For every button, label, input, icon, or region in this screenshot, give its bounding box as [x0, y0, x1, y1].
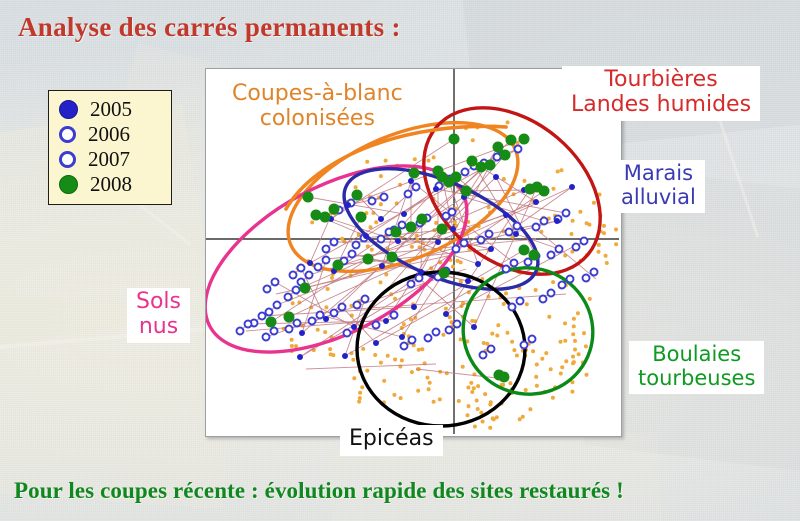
- background-point: [559, 340, 563, 344]
- point-2008: [300, 283, 311, 294]
- point-2008: [519, 134, 530, 145]
- point-2006: [353, 242, 360, 249]
- background-point: [456, 259, 460, 263]
- background-point: [357, 400, 361, 404]
- point-2007: [272, 279, 279, 286]
- background-point: [501, 383, 505, 387]
- background-point: [512, 348, 516, 352]
- background-point: [330, 276, 334, 280]
- point-2005: [395, 238, 401, 244]
- point-2006: [478, 237, 485, 244]
- background-point: [459, 280, 463, 284]
- point-2006: [540, 296, 547, 303]
- callout-tourbieres-line1: Tourbières: [571, 68, 751, 93]
- point-2008: [356, 212, 367, 223]
- background-point: [540, 357, 544, 361]
- point-2007: [271, 328, 278, 335]
- background-point: [576, 311, 580, 315]
- background-point: [358, 396, 362, 400]
- point-2005: [299, 330, 305, 336]
- background-point: [310, 220, 314, 224]
- background-point: [556, 170, 560, 174]
- point-2007: [323, 257, 330, 264]
- callout-marais-alluvial: Marais alluvial: [612, 160, 705, 213]
- point-2006: [548, 252, 555, 259]
- point-2007: [416, 275, 423, 282]
- point-2006: [378, 236, 385, 243]
- point-2007: [454, 321, 461, 328]
- point-2006: [391, 312, 398, 319]
- background-point: [400, 358, 404, 362]
- background-point: [351, 358, 355, 362]
- background-point: [571, 332, 575, 336]
- point-2006: [405, 191, 412, 198]
- point-2005: [488, 246, 494, 252]
- background-point: [602, 231, 606, 235]
- background-point: [365, 160, 369, 164]
- filled-blue-circle-icon: [59, 100, 78, 119]
- background-point: [483, 392, 487, 396]
- point-2008: [320, 212, 331, 223]
- background-point: [417, 348, 421, 352]
- point-2005: [435, 239, 441, 245]
- background-point: [410, 370, 414, 374]
- point-2007: [409, 337, 416, 344]
- background-point: [531, 349, 535, 353]
- background-point: [482, 341, 486, 345]
- point-2006: [533, 224, 540, 231]
- background-point: [379, 280, 383, 284]
- background-point: [572, 317, 576, 321]
- background-point: [506, 331, 510, 335]
- background-point: [294, 344, 298, 348]
- point-2005: [411, 304, 417, 310]
- background-point: [481, 420, 485, 424]
- point-2006: [237, 328, 244, 335]
- point-2008: [461, 186, 472, 197]
- point-2006: [315, 264, 322, 271]
- background-point: [438, 397, 442, 401]
- point-2008: [539, 186, 550, 197]
- point-2007: [259, 313, 266, 320]
- point-2008: [451, 172, 462, 183]
- background-point: [544, 351, 548, 355]
- background-point: [496, 323, 500, 327]
- background-point: [584, 344, 588, 348]
- point-2006: [264, 286, 271, 293]
- background-point: [479, 411, 483, 415]
- callout-coupes-line1: Coupes-à-blanc: [232, 82, 403, 107]
- legend-label-2006: 2006: [88, 124, 130, 145]
- background-point: [534, 288, 538, 292]
- point-2007: [245, 321, 252, 328]
- background-point: [535, 363, 539, 367]
- point-2008: [352, 190, 363, 201]
- point-2007: [548, 290, 555, 297]
- callout-epiceas: Epicéas: [340, 425, 443, 456]
- point-2008: [406, 222, 417, 233]
- point-2005: [378, 216, 384, 222]
- background-point: [560, 365, 564, 369]
- background-point: [324, 305, 328, 309]
- background-point: [518, 417, 522, 421]
- point-2008: [519, 245, 530, 256]
- page-title: Analyse des carrés permanents :: [18, 12, 401, 43]
- background-point: [602, 224, 606, 228]
- point-2006: [286, 326, 293, 333]
- background-point: [495, 334, 499, 338]
- background-point: [432, 400, 436, 404]
- legend-item-2006[interactable]: 2006: [59, 122, 163, 147]
- callout-sols-line2: nus: [136, 315, 181, 340]
- background-point: [467, 404, 471, 408]
- background-point: [399, 396, 403, 400]
- background-point: [373, 353, 377, 357]
- slide-root: Analyse des carrés permanents : 2005 200…: [0, 0, 800, 521]
- callout-sols-nus: Sols nus: [127, 288, 190, 343]
- point-2008: [437, 224, 448, 235]
- point-2008: [333, 260, 344, 271]
- point-2006: [521, 342, 528, 349]
- open-blue-circle-icon: [59, 151, 76, 168]
- background-point: [571, 355, 575, 359]
- background-point: [473, 425, 477, 429]
- background-point: [510, 340, 514, 344]
- background-point: [614, 228, 618, 232]
- background-point: [521, 415, 525, 419]
- point-2008: [417, 214, 428, 225]
- point-2006: [506, 229, 513, 236]
- point-2007: [306, 272, 313, 279]
- point-2007: [488, 346, 495, 353]
- background-point: [524, 388, 528, 392]
- background-point: [549, 367, 553, 371]
- point-2005: [401, 211, 407, 217]
- background-point: [329, 352, 333, 356]
- point-2008: [467, 156, 478, 167]
- background-point: [597, 250, 601, 254]
- point-2005: [363, 233, 369, 239]
- point-2005: [297, 354, 303, 360]
- background-point: [476, 407, 480, 411]
- background-point: [469, 381, 473, 385]
- background-point: [508, 381, 512, 385]
- point-2006: [285, 294, 292, 301]
- point-2006: [573, 244, 580, 251]
- point-2005: [342, 353, 348, 359]
- point-2006: [480, 352, 487, 359]
- background-point: [426, 376, 430, 380]
- point-2006: [373, 322, 380, 329]
- background-point: [560, 168, 564, 172]
- point-2008: [363, 254, 374, 265]
- point-2008: [499, 372, 510, 383]
- background-point: [488, 403, 492, 407]
- point-2005: [323, 316, 329, 322]
- background-point: [597, 243, 601, 247]
- legend-item-2005[interactable]: 2005: [59, 97, 163, 122]
- point-2007: [486, 231, 493, 238]
- background-point: [587, 223, 591, 227]
- point-2007: [294, 320, 301, 327]
- background-point: [573, 339, 577, 343]
- point-2007: [331, 239, 338, 246]
- background-point: [470, 390, 474, 394]
- background-point: [488, 426, 492, 430]
- open-blue-circle-icon: [59, 126, 76, 143]
- background-point: [410, 245, 414, 249]
- point-2007: [317, 312, 324, 319]
- point-2005: [471, 324, 477, 330]
- point-2006: [509, 304, 516, 311]
- background-point: [379, 361, 383, 365]
- point-2007: [381, 194, 388, 201]
- point-2006: [290, 272, 297, 279]
- point-2005: [408, 178, 414, 184]
- callout-boulaies-tourbeuses: Boulaies tourbeuses: [629, 341, 764, 394]
- background-point: [445, 371, 449, 375]
- background-point: [577, 352, 581, 356]
- point-2007: [433, 329, 440, 336]
- point-2005: [569, 184, 575, 190]
- point-2005: [351, 324, 357, 330]
- point-2006: [453, 246, 460, 253]
- background-point: [585, 373, 589, 377]
- point-2006: [446, 327, 453, 334]
- background-point: [466, 386, 470, 390]
- background-point: [564, 359, 568, 363]
- point-2007: [339, 304, 346, 311]
- background-point: [535, 384, 539, 388]
- background-point: [491, 416, 495, 420]
- background-point: [572, 324, 576, 328]
- point-2008: [500, 150, 511, 161]
- background-point: [290, 338, 294, 342]
- background-point: [523, 179, 527, 183]
- background-point: [552, 187, 556, 191]
- background-point: [490, 332, 494, 336]
- background-point: [525, 302, 529, 306]
- background-point: [582, 331, 586, 335]
- point-2007: [461, 240, 468, 247]
- trajectory-line: [416, 369, 506, 379]
- background-point: [604, 254, 608, 258]
- year-legend: 2005 2006 2007 2008: [48, 90, 172, 205]
- point-2007: [563, 210, 570, 217]
- background-point: [384, 159, 388, 163]
- background-point: [379, 174, 383, 178]
- background-point: [471, 138, 475, 142]
- background-point: [392, 393, 396, 397]
- legend-label-2008: 2008: [90, 174, 132, 195]
- point-2008: [409, 168, 420, 179]
- background-point: [402, 322, 406, 326]
- point-2008: [529, 250, 540, 261]
- point-2006: [408, 281, 415, 288]
- point-2006: [331, 310, 338, 317]
- background-point: [457, 399, 461, 403]
- point-2005: [307, 260, 313, 266]
- background-point: [386, 354, 390, 358]
- point-2006: [462, 169, 469, 176]
- legend-item-2007[interactable]: 2007: [59, 147, 163, 172]
- background-point: [427, 387, 431, 391]
- point-2007: [362, 296, 369, 303]
- point-2007: [274, 302, 281, 309]
- background-point: [432, 155, 436, 159]
- callout-coupes-line2: colonisées: [232, 107, 403, 132]
- background-point: [551, 396, 555, 400]
- background-point: [393, 358, 397, 362]
- point-2005: [383, 318, 389, 324]
- background-point: [475, 399, 479, 403]
- point-2007: [293, 287, 300, 294]
- background-point: [323, 330, 327, 334]
- point-2008: [485, 160, 496, 171]
- background-point: [461, 365, 465, 369]
- bottom-caption: Pour les coupes récente : évolution rapi…: [14, 478, 624, 504]
- point-2006: [559, 282, 566, 289]
- background-point: [605, 261, 609, 265]
- callout-boulaies-line1: Boulaies: [638, 343, 755, 367]
- point-2007: [449, 209, 456, 216]
- legend-item-2008[interactable]: 2008: [59, 172, 163, 197]
- background-point: [365, 369, 369, 373]
- background-point: [504, 291, 508, 295]
- point-2007: [567, 276, 574, 283]
- background-point: [370, 248, 374, 252]
- background-point: [374, 220, 378, 224]
- background-point: [528, 407, 532, 411]
- background-point: [570, 232, 574, 236]
- background-point: [570, 390, 574, 394]
- background-point: [534, 375, 538, 379]
- group-ellipse: [357, 272, 525, 426]
- point-2005: [345, 202, 351, 208]
- background-point: [316, 328, 320, 332]
- point-2008: [391, 227, 402, 238]
- background-point: [326, 287, 330, 291]
- background-point: [592, 201, 596, 205]
- background-point: [352, 376, 356, 380]
- point-2007: [298, 265, 305, 272]
- point-2006: [425, 335, 432, 342]
- background-point: [379, 202, 383, 206]
- point-2006: [309, 318, 316, 325]
- point-2006: [263, 334, 270, 341]
- callout-tourbieres-line2: Landes humides: [571, 93, 751, 118]
- background-point: [495, 415, 499, 419]
- background-point: [420, 347, 424, 351]
- point-2005: [433, 186, 439, 192]
- callout-marais-line2: alluvial: [621, 186, 696, 210]
- point-2005: [513, 231, 519, 237]
- background-point: [427, 159, 431, 163]
- point-2006: [369, 198, 376, 205]
- point-2005: [475, 261, 481, 267]
- callout-sols-line1: Sols: [136, 290, 181, 315]
- background-point: [578, 210, 582, 214]
- point-2007: [591, 269, 598, 276]
- background-point: [361, 347, 365, 351]
- callout-coupes-a-blanc: Coupes-à-blanc colonisées: [223, 80, 412, 135]
- background-point: [571, 361, 575, 365]
- background-point: [444, 307, 448, 311]
- point-2005: [554, 218, 560, 224]
- point-2005: [443, 311, 449, 317]
- point-2008: [329, 204, 340, 215]
- background-point: [472, 386, 476, 390]
- background-point: [551, 280, 555, 284]
- background-point: [354, 185, 358, 189]
- background-point: [614, 242, 618, 246]
- background-point: [559, 372, 563, 376]
- point-2007: [556, 246, 563, 253]
- background-point: [291, 301, 295, 305]
- point-2008: [303, 192, 314, 203]
- point-2007: [514, 223, 521, 230]
- background-point: [290, 344, 294, 348]
- point-2005: [418, 269, 424, 275]
- background-point: [563, 321, 567, 325]
- background-point: [466, 413, 470, 417]
- point-2006: [323, 246, 330, 253]
- background-point: [571, 219, 575, 223]
- point-2006: [525, 259, 532, 266]
- point-2007: [517, 298, 524, 305]
- background-point: [416, 389, 420, 393]
- point-2005: [465, 278, 471, 284]
- legend-label-2005: 2005: [90, 99, 132, 120]
- point-2005: [503, 212, 509, 218]
- point-2005: [493, 174, 499, 180]
- point-2005: [450, 226, 456, 232]
- point-2006: [583, 275, 590, 282]
- background-point: [502, 302, 506, 306]
- point-2008: [266, 317, 277, 328]
- point-2005: [373, 340, 379, 346]
- background-point: [506, 120, 510, 124]
- point-2006: [266, 309, 273, 316]
- point-2005: [399, 334, 405, 340]
- background-point: [382, 379, 386, 383]
- point-2007: [413, 184, 420, 191]
- background-point: [573, 348, 577, 352]
- legend-label-2007: 2007: [88, 149, 130, 170]
- point-2007: [494, 154, 501, 161]
- background-point: [428, 381, 432, 385]
- point-2006: [401, 343, 408, 350]
- background-point: [360, 385, 364, 389]
- callout-boulaies-line2: tourbeuses: [638, 367, 755, 391]
- point-2008: [387, 252, 398, 263]
- background-point: [358, 391, 362, 395]
- point-2007: [349, 251, 356, 258]
- background-point: [476, 384, 480, 388]
- point-2007: [541, 218, 548, 225]
- point-2006: [503, 266, 510, 273]
- background-point: [563, 339, 567, 343]
- callout-marais-line1: Marais: [621, 162, 696, 186]
- point-2007: [511, 260, 518, 267]
- point-2006: [344, 330, 351, 337]
- point-2005: [533, 199, 539, 205]
- filled-green-circle-icon: [59, 175, 78, 194]
- background-point: [413, 157, 417, 161]
- point-2005: [379, 263, 385, 269]
- background-point: [451, 265, 455, 269]
- background-point: [441, 333, 445, 337]
